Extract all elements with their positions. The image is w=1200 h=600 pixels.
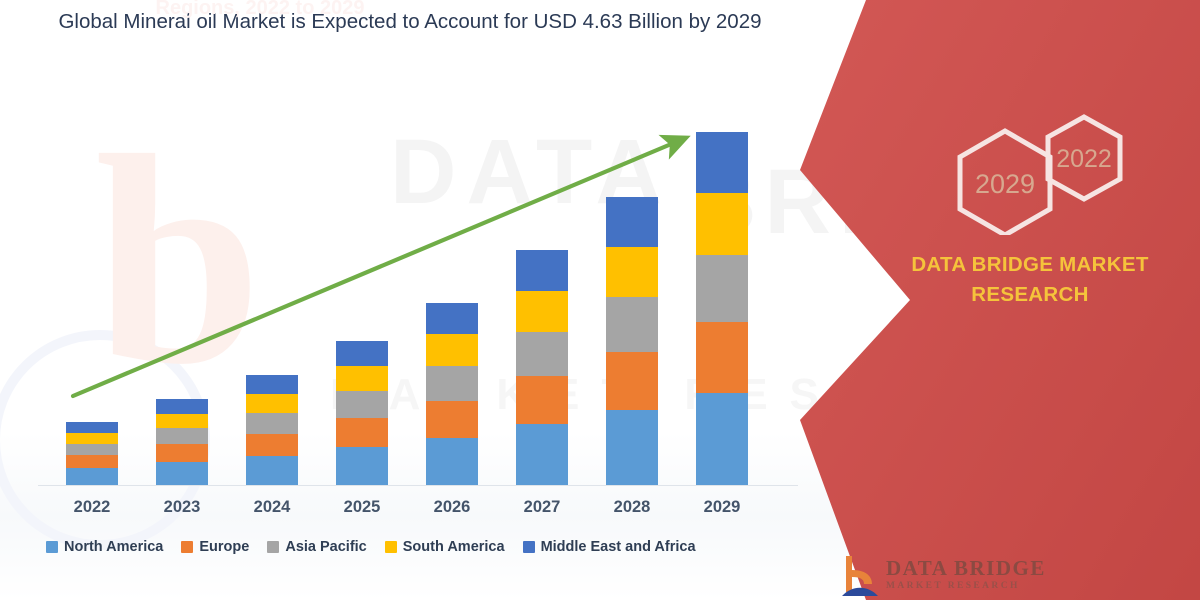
- hex-2022-label: 2022: [1056, 145, 1112, 173]
- bar-segment: [516, 250, 568, 291]
- legend-swatch-icon: [523, 541, 535, 553]
- bridge-logo-icon: [838, 552, 884, 598]
- brand-line-1: DATA BRIDGE MARKET: [860, 250, 1200, 280]
- legend-item-south-america[interactable]: South America: [385, 539, 505, 555]
- footer-logo: DATA BRIDGE MARKET RESEARCH: [838, 552, 1168, 600]
- bar-segment: [516, 376, 568, 423]
- x-axis-label-2024: 2024: [227, 498, 317, 517]
- bar-segment: [696, 322, 748, 393]
- right-panel-title: Regions, 2022 to 2029: [120, 0, 400, 22]
- bar-segment: [336, 341, 388, 366]
- x-axis-label-2022: 2022: [47, 498, 137, 517]
- bar-segment: [606, 297, 658, 351]
- bar-segment: [516, 291, 568, 332]
- bar-segment: [246, 456, 298, 485]
- bar-segment: [156, 444, 208, 462]
- bar-segment: [426, 366, 478, 400]
- footer-logo-subtext: MARKET RESEARCH: [886, 581, 1020, 591]
- legend-label: North America: [64, 539, 163, 555]
- bar-segment: [336, 447, 388, 485]
- bar-segment: [246, 434, 298, 456]
- legend-swatch-icon: [46, 541, 58, 553]
- legend-label: South America: [403, 539, 505, 555]
- bar-2025: [336, 341, 388, 485]
- bar-segment: [246, 375, 298, 394]
- x-axis-label-2023: 2023: [137, 498, 227, 517]
- x-axis-line: [38, 485, 798, 486]
- legend-label: Asia Pacific: [285, 539, 366, 555]
- bar-segment: [66, 433, 118, 444]
- legend-item-middle-east-and-africa[interactable]: Middle East and Africa: [523, 539, 696, 555]
- stacked-bar-chart: 20222023202420252026202720282029: [0, 0, 900, 600]
- bar-segment: [66, 444, 118, 455]
- bar-segment: [156, 428, 208, 444]
- bar-segment: [426, 334, 478, 366]
- bar-2028: [606, 197, 658, 485]
- bar-segment: [606, 352, 658, 410]
- x-axis-label-2028: 2028: [587, 498, 677, 517]
- bar-segment: [426, 401, 478, 438]
- bar-2022: [66, 422, 118, 485]
- infographic-root: b DATA BRIDGE MARKET RESEARCH Global Min…: [0, 0, 1200, 600]
- legend-swatch-icon: [385, 541, 397, 553]
- x-axis-label-2026: 2026: [407, 498, 497, 517]
- bar-segment: [426, 303, 478, 334]
- bar-2026: [426, 303, 478, 485]
- bar-segment: [336, 418, 388, 447]
- brand-name: DATA BRIDGE MARKET RESEARCH: [860, 250, 1200, 310]
- legend-label: Europe: [199, 539, 249, 555]
- bar-segment: [156, 414, 208, 429]
- x-axis-label-2025: 2025: [317, 498, 407, 517]
- footer-logo-text: DATA BRIDGE: [886, 556, 1046, 581]
- bar-segment: [156, 462, 208, 485]
- bar-2029: [696, 132, 748, 485]
- bar-segment: [66, 468, 118, 485]
- bar-segment: [246, 413, 298, 434]
- bar-segment: [66, 455, 118, 468]
- bar-segment: [696, 193, 748, 255]
- bar-segment: [606, 247, 658, 298]
- x-axis-label-2027: 2027: [497, 498, 587, 517]
- bar-2027: [516, 250, 568, 485]
- bar-segment: [516, 332, 568, 376]
- hex-2029-label: 2029: [975, 169, 1035, 199]
- bar-segment: [66, 422, 118, 433]
- bar-segment: [516, 424, 568, 485]
- legend-swatch-icon: [181, 541, 193, 553]
- bar-2024: [246, 375, 298, 485]
- bar-segment: [696, 393, 748, 485]
- chart-legend: North AmericaEuropeAsia PacificSouth Ame…: [46, 539, 806, 555]
- legend-label: Middle East and Africa: [541, 539, 696, 555]
- chart-panel: b DATA BRIDGE MARKET RESEARCH Global Min…: [0, 0, 900, 600]
- x-axis-label-2029: 2029: [677, 498, 767, 517]
- bar-segment: [606, 197, 658, 247]
- bar-segment: [246, 394, 298, 413]
- hexagon-badges: 2022 2029: [930, 95, 1160, 235]
- legend-swatch-icon: [267, 541, 279, 553]
- legend-item-north-america[interactable]: North America: [46, 539, 163, 555]
- bar-segment: [696, 255, 748, 322]
- bar-segment: [606, 410, 658, 485]
- bar-2023: [156, 399, 208, 485]
- bar-segment: [696, 132, 748, 193]
- bar-segment: [426, 438, 478, 485]
- bar-segment: [156, 399, 208, 414]
- legend-item-europe[interactable]: Europe: [181, 539, 249, 555]
- bar-segment: [336, 391, 388, 418]
- brand-line-2: RESEARCH: [860, 280, 1200, 310]
- bar-segment: [336, 366, 388, 391]
- legend-item-asia-pacific[interactable]: Asia Pacific: [267, 539, 366, 555]
